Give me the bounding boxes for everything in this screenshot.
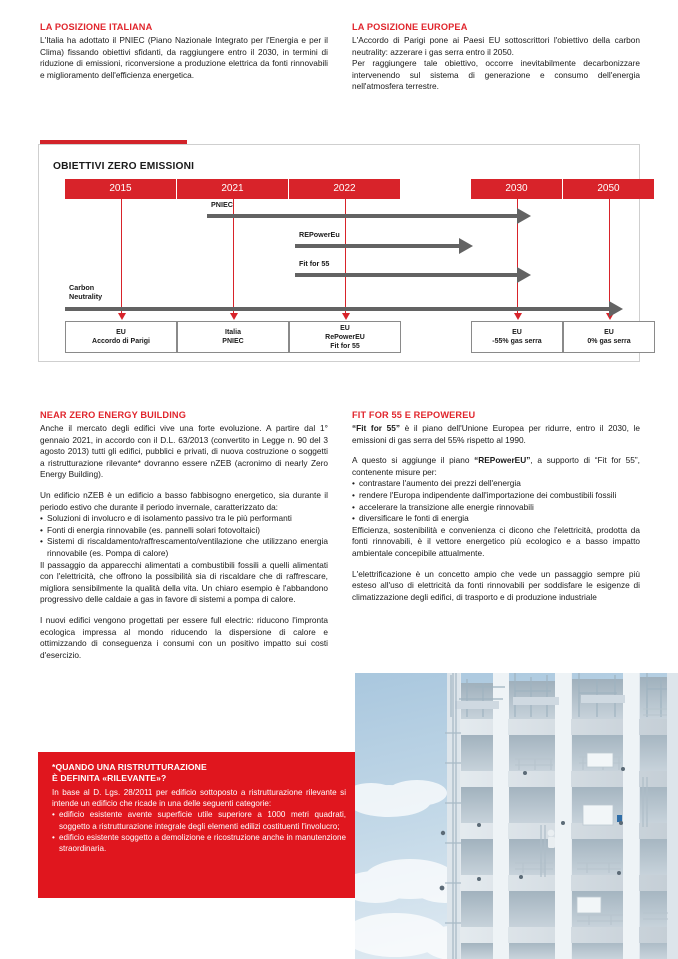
fitfor55-paragraph-2: A questo si aggiunge il piano “REPowerEU… (352, 455, 640, 478)
column-posizione-italiana: LA POSIZIONE ITALIANA L'Italia ha adotta… (40, 22, 328, 93)
flow-bar-2 (295, 273, 517, 277)
year-arrowhead-2030 (514, 313, 522, 320)
flow-label-2: Fit for 55 (299, 260, 329, 269)
year-connector-line-2050 (609, 199, 610, 314)
nzeb-bullet-list: Soluzioni di involucro e di isolamento p… (40, 513, 328, 559)
fitfor55-bold-1: “Fit for 55” (352, 423, 400, 433)
year-box-2015[interactable]: 2015 (65, 179, 177, 199)
flow-label-0: PNIEC (211, 201, 233, 210)
callout-bullet-item: edificio esistente avente superficie uti… (52, 809, 346, 831)
diagram-panel: OBIETTIVI ZERO EMISSIONI 201520212022203… (38, 144, 640, 362)
result-line: Accordo di Parigi (92, 337, 150, 346)
result-line: PNIEC (222, 337, 243, 346)
year-box-2021[interactable]: 2021 (177, 179, 289, 199)
result-box-0[interactable]: EUAccordo di Parigi (65, 321, 177, 353)
building-under-construction-photo (355, 673, 678, 959)
column-posizione-europea: LA POSIZIONE EUROPEA L'Accordo di Parigi… (352, 22, 640, 93)
top-columns: LA POSIZIONE ITALIANA L'Italia ha adotta… (40, 22, 640, 93)
flow-arrowhead-3 (609, 301, 623, 317)
year-box-2030[interactable]: 2030 (471, 179, 563, 199)
result-line: EU (512, 328, 522, 337)
year-box-2050[interactable]: 2050 (563, 179, 655, 199)
section-heading-italiana: LA POSIZIONE ITALIANA (40, 22, 328, 32)
result-line: 0% gas serra (587, 337, 630, 346)
flow-label-3: Carbon Neutrality (69, 284, 102, 301)
nzeb-bullet-item: Soluzioni di involucro e di isolamento p… (40, 513, 328, 525)
paragraph-europea-1: L'Accordo di Parigi pone ai Paesi EU sot… (352, 35, 640, 58)
fitfor55-paragraph-4: L'elettrificazione è un concetto ampio c… (352, 569, 640, 604)
result-line: Fit for 55 (330, 342, 360, 351)
callout-bullet-list: edificio esistente avente superficie uti… (52, 809, 346, 854)
fitfor55-bold-2: “REPowerEU” (474, 455, 530, 465)
nzeb-paragraph-1: Anche il mercato degli edifici vive una … (40, 423, 328, 481)
fitfor55-paragraph-1: “Fit for 55” è il piano dell'Unione Euro… (352, 423, 640, 446)
flow-arrowhead-0 (517, 208, 531, 224)
fitfor55-paragraph-3: Efficienza, sostenibilità e convenienza … (352, 525, 640, 560)
section-heading-europea: LA POSIZIONE EUROPEA (352, 22, 640, 32)
callout-paragraph: In base al D. Lgs. 28/2011 per edificio … (52, 787, 346, 809)
nzeb-bullet-item: Fonti di energia rinnovabile (es. pannel… (40, 525, 328, 537)
fitfor55-pre-2: A questo si aggiunge il piano (352, 455, 474, 465)
paragraph-europea-2: Per raggiungere tale obiettivo, occorre … (352, 58, 640, 93)
result-box-3[interactable]: EU-55% gas serra (471, 321, 563, 353)
callout-bullet-item: edificio esistente soggetto a demolizion… (52, 832, 346, 854)
fitfor55-bullet-item: accelerare la transizione alle energie r… (352, 502, 640, 514)
result-box-2[interactable]: EURePowerEUFit for 55 (289, 321, 401, 353)
nzeb-bullet-item: Sistemi di riscaldamento/raffrescamento/… (40, 536, 328, 559)
nzeb-paragraph-2: Un edificio nZEB è un edificio a basso f… (40, 490, 328, 513)
year-arrowhead-2015 (118, 313, 126, 320)
fitfor55-bullet-list: contrastare l'aumento dei prezzi dell'en… (352, 478, 640, 524)
fitfor55-bullet-item: contrastare l'aumento dei prezzi dell'en… (352, 478, 640, 490)
flow-arrowhead-1 (459, 238, 473, 254)
year-arrowhead-2021 (230, 313, 238, 320)
column-fitfor55: FIT FOR 55 E REPOWEREU “Fit for 55” è il… (352, 410, 640, 661)
flow-bar-3 (65, 307, 609, 311)
timeline-diagram: OBIETTIVI ZERO EMISSIONI 201520212022203… (38, 140, 640, 362)
result-box-4[interactable]: EU0% gas serra (563, 321, 655, 353)
fitfor55-bullet-item: rendere l'Europa indipendente dall'impor… (352, 490, 640, 502)
section-heading-fitfor55: FIT FOR 55 E REPOWEREU (352, 410, 640, 420)
photo-svg (355, 673, 678, 959)
flow-label-1: REPowerEu (299, 231, 340, 240)
section-heading-nzeb: NEAR ZERO ENERGY BUILDING (40, 410, 328, 420)
column-nzeb: NEAR ZERO ENERGY BUILDING Anche il merca… (40, 410, 328, 661)
paragraph-italiana: L'Italia ha adottato il PNIEC (Piano Naz… (40, 35, 328, 81)
callout-ristrutturazione-rilevante: *QUANDO UNA RISTRUTTURAZIONE È DEFINITA … (38, 752, 358, 898)
result-box-1[interactable]: ItaliaPNIEC (177, 321, 289, 353)
result-line: EU (116, 328, 126, 337)
result-line: EU (340, 324, 350, 333)
year-arrowhead-2022 (342, 313, 350, 320)
diagram-title: OBIETTIVI ZERO EMISSIONI (53, 161, 194, 172)
callout-heading-line1: *QUANDO UNA RISTRUTTURAZIONE (52, 762, 207, 772)
result-line: Italia (225, 328, 241, 337)
flow-bar-0 (207, 214, 517, 218)
result-line: -55% gas serra (492, 337, 541, 346)
nzeb-paragraph-3: Il passaggio da apparecchi alimentati a … (40, 560, 328, 606)
callout-heading: *QUANDO UNA RISTRUTTURAZIONE È DEFINITA … (52, 762, 346, 784)
fitfor55-bullet-item: diversificare le fonti di energia (352, 513, 640, 525)
callout-heading-line2: È DEFINITA «RILEVANTE»? (52, 773, 166, 783)
brochure-page: LA POSIZIONE ITALIANA L'Italia ha adotta… (0, 0, 678, 959)
flow-arrowhead-2 (517, 267, 531, 283)
year-connector-line-2015 (121, 199, 122, 314)
nzeb-paragraph-4: I nuovi edifici vengono progettati per e… (40, 615, 328, 661)
result-line: EU (604, 328, 614, 337)
year-box-2022[interactable]: 2022 (289, 179, 401, 199)
mid-columns: NEAR ZERO ENERGY BUILDING Anche il merca… (40, 410, 640, 661)
result-line: RePowerEU (325, 333, 365, 342)
flow-bar-1 (295, 244, 459, 248)
